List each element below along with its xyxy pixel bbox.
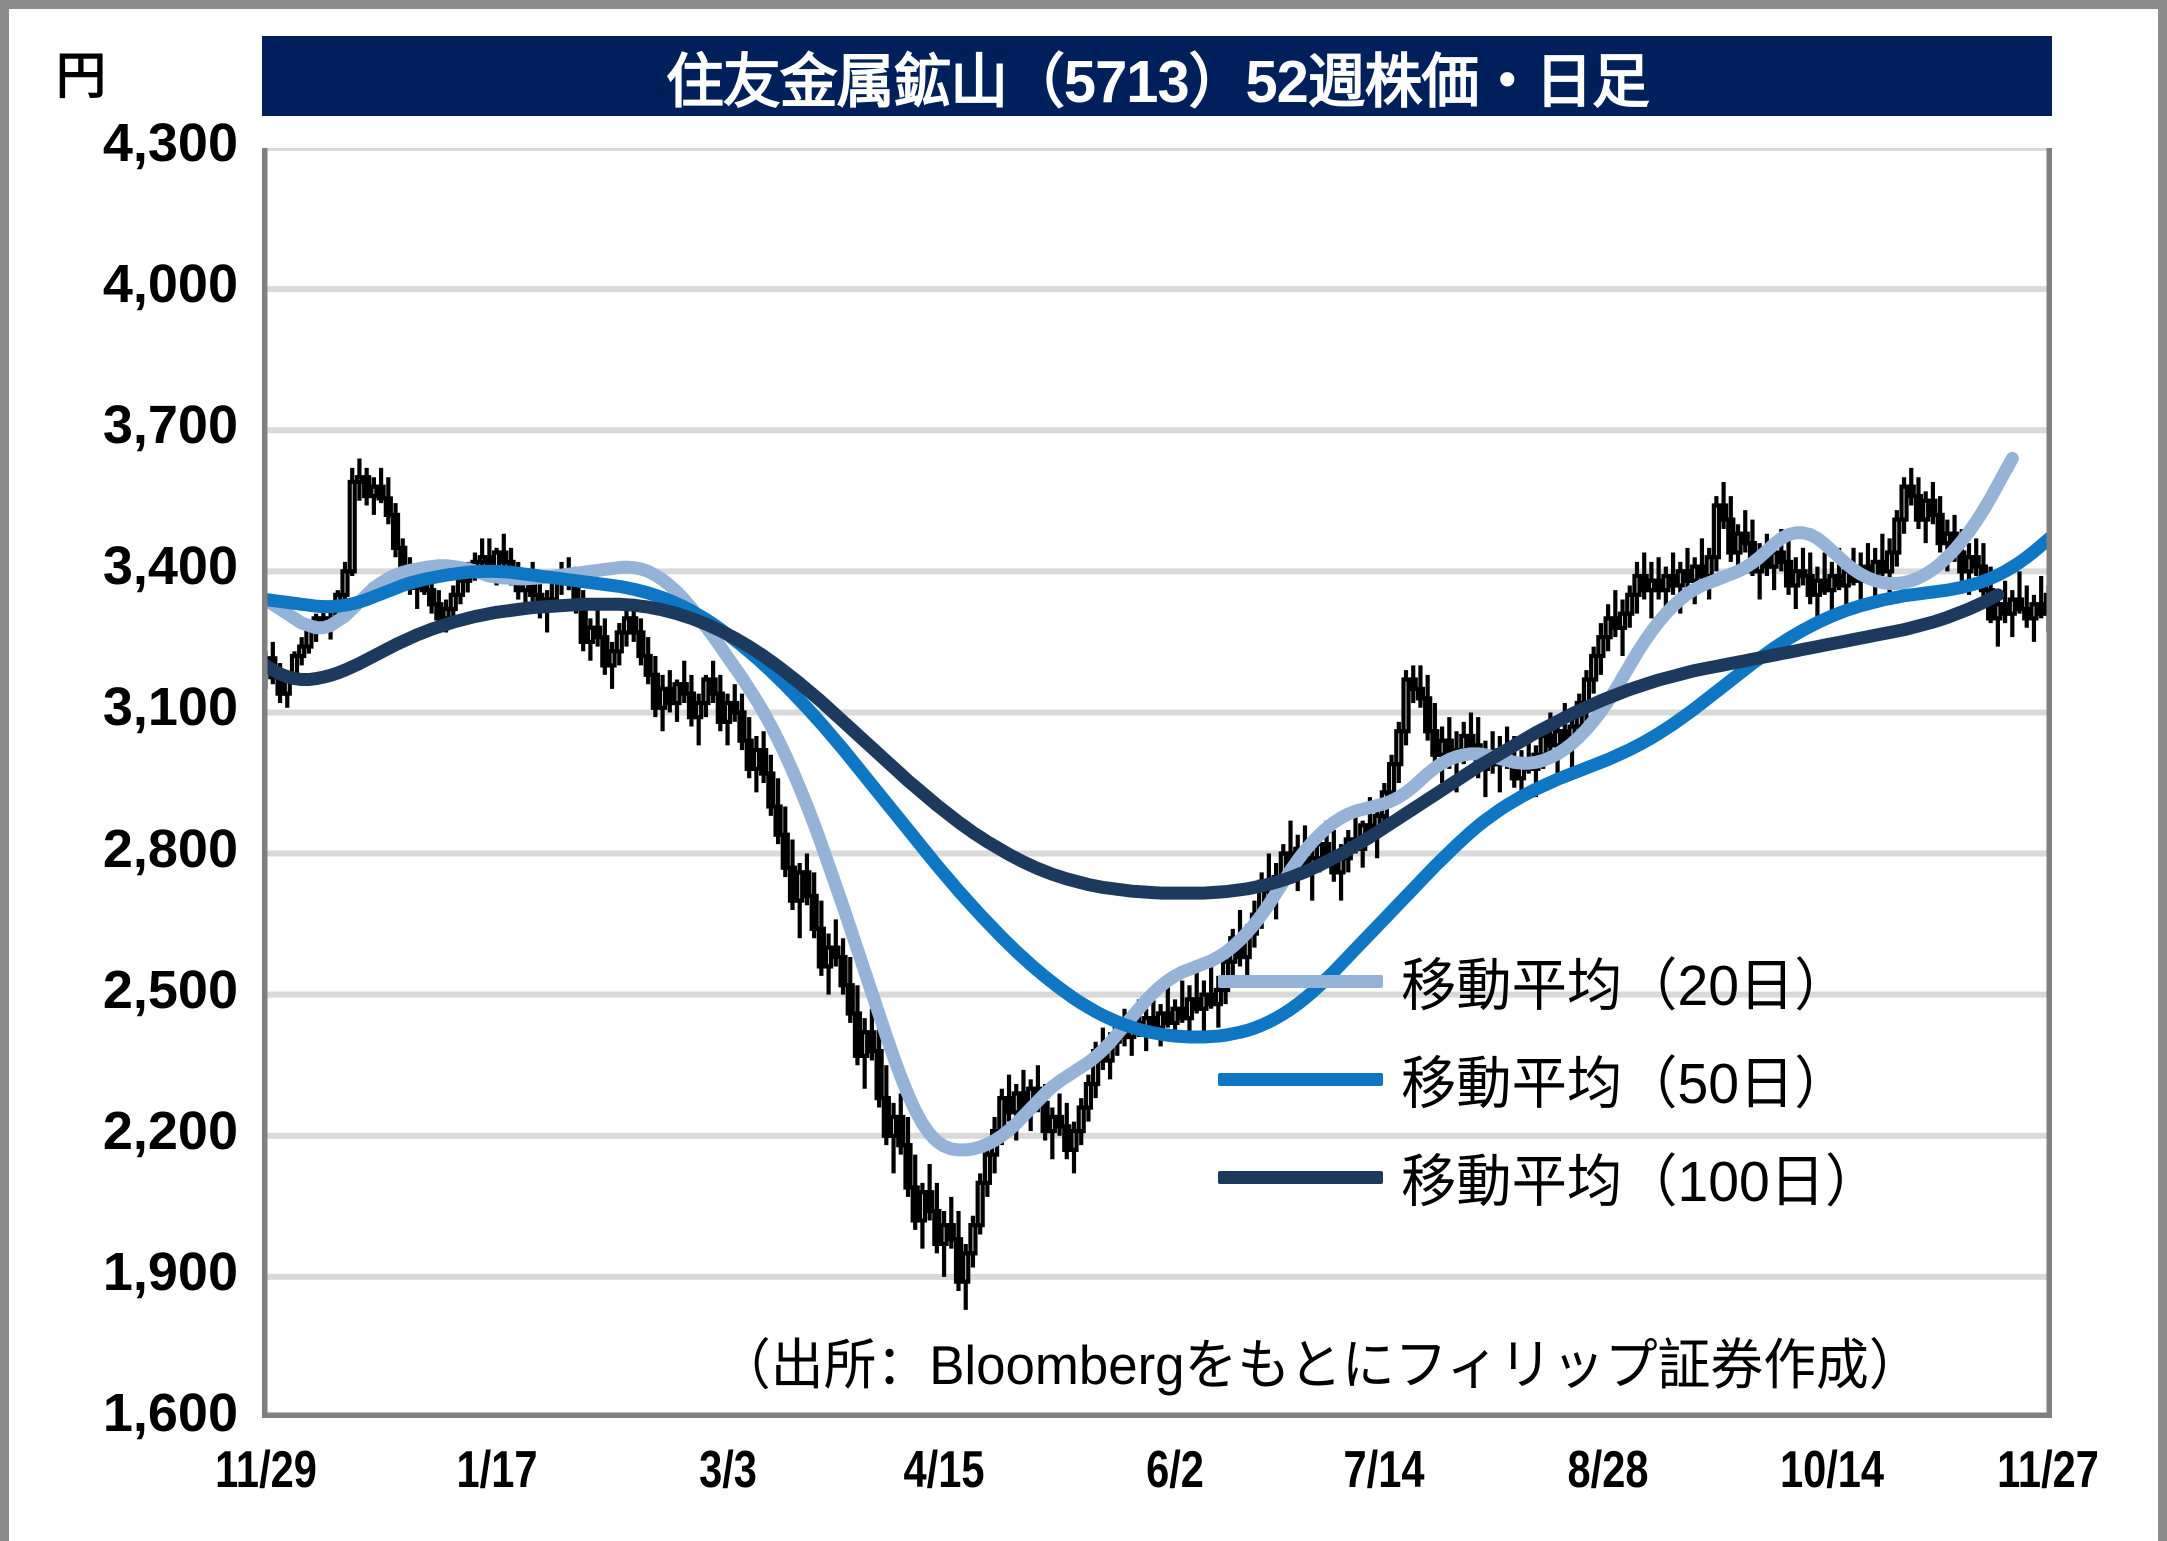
x-tick-label: 3/3 bbox=[699, 1440, 757, 1500]
source-attribution: （出所：Bloombergをもとにフィリップ証券作成） bbox=[718, 1320, 1922, 1400]
y-tick-label: 1,900 bbox=[28, 1241, 238, 1303]
x-tick-label: 8/28 bbox=[1568, 1440, 1649, 1500]
y-tick-label: 2,800 bbox=[28, 818, 238, 880]
y-tick-label: 4,000 bbox=[28, 253, 238, 315]
y-tick-label: 2,500 bbox=[28, 959, 238, 1021]
chart-title-bar: 住友金属鉱山（5713）52週株価・日足 bbox=[262, 36, 2052, 116]
x-tick-label: 10/14 bbox=[1780, 1440, 1884, 1500]
x-tick-label: 4/15 bbox=[904, 1440, 985, 1500]
x-tick-label: 1/17 bbox=[456, 1440, 537, 1500]
y-tick-label: 4,300 bbox=[28, 112, 238, 174]
chart-title: 住友金属鉱山（5713）52週株価・日足 bbox=[666, 34, 1649, 119]
legend-label-ma50: 移動平均（50日） bbox=[1401, 1038, 1850, 1120]
plot-area bbox=[262, 148, 2052, 1418]
y-tick-label: 3,700 bbox=[28, 394, 238, 456]
y-tick-label: 1,600 bbox=[28, 1382, 238, 1444]
y-axis-unit-label: 円 bbox=[56, 36, 106, 108]
y-tick-label: 3,100 bbox=[28, 676, 238, 738]
x-tick-label: 6/2 bbox=[1146, 1440, 1204, 1500]
legend-item-ma50[interactable]: 移動平均（50日） bbox=[1218, 1030, 1895, 1128]
y-tick-label: 3,400 bbox=[28, 535, 238, 597]
chart-legend: 移動平均（20日） 移動平均（50日） 移動平均（100日） bbox=[1218, 932, 1895, 1226]
legend-label-ma100: 移動平均（100日） bbox=[1401, 1136, 1880, 1218]
y-tick-label: 2,200 bbox=[28, 1100, 238, 1162]
candlestick-plot bbox=[262, 148, 2052, 1418]
x-tick-label: 11/27 bbox=[1997, 1440, 2099, 1500]
x-tick-label: 11/29 bbox=[215, 1440, 317, 1500]
legend-item-ma20[interactable]: 移動平均（20日） bbox=[1218, 932, 1895, 1030]
x-tick-label: 7/14 bbox=[1344, 1440, 1425, 1500]
axis-lines bbox=[262, 148, 2052, 1418]
legend-item-ma100[interactable]: 移動平均（100日） bbox=[1218, 1128, 1895, 1226]
ma-line-100 bbox=[266, 595, 1998, 893]
legend-label-ma20: 移動平均（20日） bbox=[1401, 940, 1850, 1022]
legend-swatch-ma100 bbox=[1218, 1171, 1383, 1184]
legend-swatch-ma50 bbox=[1218, 1073, 1383, 1086]
legend-swatch-ma20 bbox=[1218, 975, 1383, 988]
